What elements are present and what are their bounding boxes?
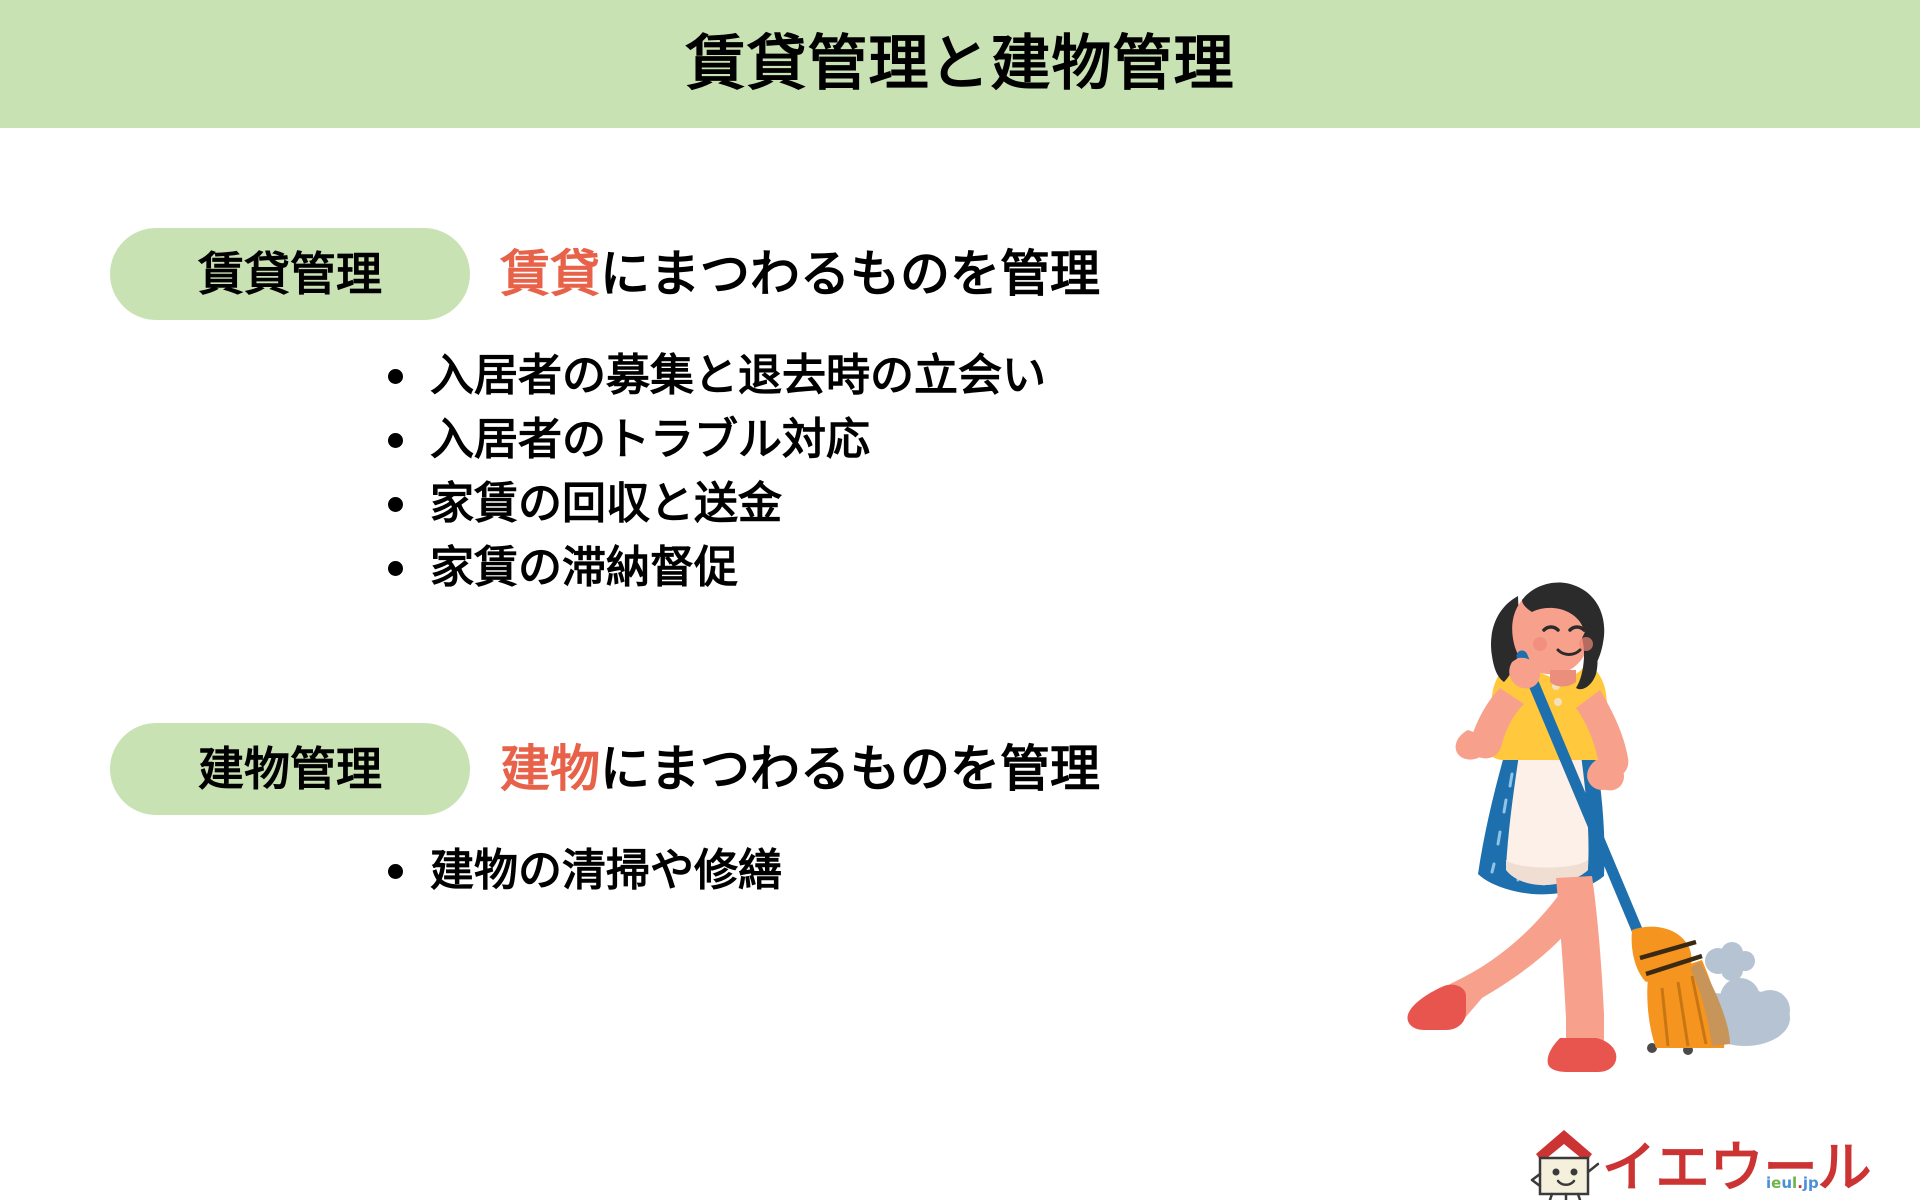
heading-accent-text: 賃貸	[500, 245, 600, 303]
section-heading: 建物にまつわるものを管理	[500, 744, 1100, 794]
list-item-label: 入居者の募集と退去時の立会い	[430, 354, 1046, 398]
logo-domain-text: ieul.jp	[1766, 1174, 1819, 1192]
logo-brand-text: イエウール	[1602, 1136, 1871, 1199]
section-header: 賃貸管理 賃貸にまつわるものを管理	[110, 228, 1290, 320]
header-banner: 賃貸管理と建物管理	[0, 0, 1920, 128]
bullet-dot-icon	[388, 561, 403, 576]
bullet-list-rental: 入居者の募集と退去時の立会い 入居者のトラブル対応 家賃の回収と送金 家賃の滞納…	[388, 344, 1290, 600]
list-item-label: 家賃の回収と送金	[430, 482, 782, 526]
list-item: 入居者のトラブル対応	[388, 408, 1290, 472]
section-heading: 賃貸にまつわるものを管理	[500, 249, 1100, 299]
heading-accent-text: 建物	[500, 740, 600, 798]
heading-rest-text: にまつわるものを管理	[600, 245, 1100, 303]
bullet-dot-icon	[388, 433, 403, 448]
badge-rental-management: 賃貸管理	[110, 228, 470, 320]
bullet-dot-icon	[388, 497, 403, 512]
list-item: 家賃の滞納督促	[388, 536, 1290, 600]
list-item: 家賃の回収と送金	[388, 472, 1290, 536]
bullet-list-building: 建物の清掃や修繕	[388, 839, 1290, 903]
bullet-dot-icon	[388, 369, 403, 384]
list-item-label: 入居者のトラブル対応	[430, 418, 870, 462]
page-title: 賃貸管理と建物管理	[686, 34, 1235, 94]
badge-label: 賃貸管理	[198, 251, 382, 297]
badge-building-management: 建物管理	[110, 723, 470, 815]
section-rental-management: 賃貸管理 賃貸にまつわるものを管理 入居者の募集と退去時の立会い 入居者のトラブ…	[110, 228, 1290, 600]
list-item: 入居者の募集と退去時の立会い	[388, 344, 1290, 408]
heading-rest-text: にまつわるものを管理	[600, 740, 1100, 798]
list-item: 建物の清掃や修繕	[388, 839, 1290, 903]
bullet-dot-icon	[388, 864, 403, 879]
list-item-label: 建物の清掃や修繕	[430, 849, 782, 893]
ieul-logo[interactable]: イエウール ieul.jp	[1530, 1128, 1900, 1200]
house-mascot-icon	[1532, 1130, 1598, 1200]
section-header: 建物管理 建物にまつわるものを管理	[110, 723, 1290, 815]
main-content: 賃貸管理 賃貸にまつわるものを管理 入居者の募集と退去時の立会い 入居者のトラブ…	[0, 128, 1920, 1080]
woman-sweeping-illustration	[1400, 578, 1820, 1078]
badge-label: 建物管理	[198, 746, 382, 792]
list-item-label: 家賃の滞納督促	[430, 546, 738, 590]
section-building-management: 建物管理 建物にまつわるものを管理 建物の清掃や修繕	[110, 723, 1290, 903]
